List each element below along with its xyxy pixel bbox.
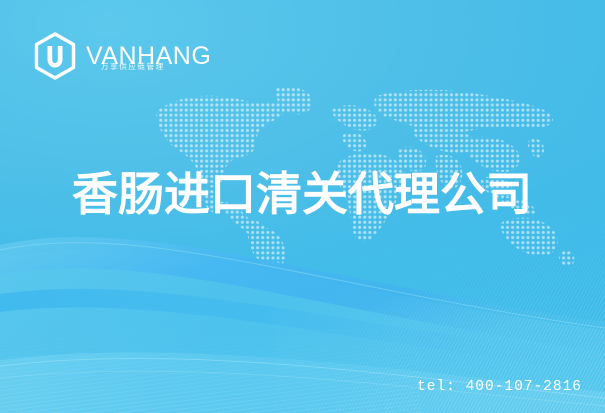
promo-banner: VANHANG 万享供应链管理 香肠进口清关代理公司 tel: 400-107-… [0,0,605,413]
brand-logo[interactable]: VANHANG 万享供应链管理 [33,32,211,80]
brand-subtitle: 万享供应链管理 [101,63,165,71]
brand-wordmark-group: VANHANG 万享供应链管理 [86,44,211,69]
contact-phone: tel: 400-107-2816 [417,379,582,395]
vanhang-hexagon-logo-icon [33,32,77,80]
headline-title: 香肠进口清关代理公司 [72,170,532,220]
bottom-stripe-texture [0,323,420,413]
